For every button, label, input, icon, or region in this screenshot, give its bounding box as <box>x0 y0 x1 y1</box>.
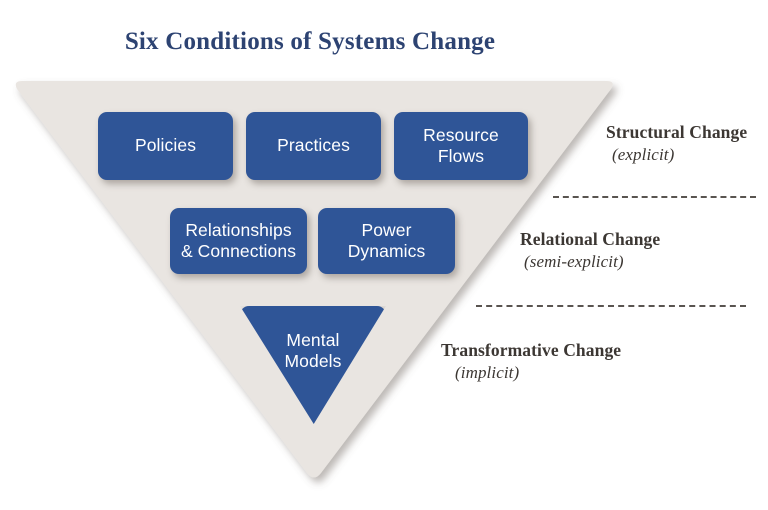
band-title-structural-change: Structural Change <box>606 122 747 143</box>
condition-box-mental-models[interactable]: Mental Models <box>240 306 386 424</box>
condition-label-mental-line2: Models <box>284 351 341 372</box>
condition-label-relationships-connections: Relationships & Connections <box>181 220 296 263</box>
condition-label-power-line2: Dynamics <box>348 241 426 262</box>
band-subtitle-relational-change: (semi-explicit) <box>524 252 660 272</box>
band-divider-structural-relational <box>553 196 756 198</box>
band-title-transformative-change: Transformative Change <box>441 340 621 361</box>
condition-label-resource-flows-line2: Flows <box>423 146 499 167</box>
condition-label-resource-flows: Resource Flows <box>423 125 499 168</box>
condition-label-power-dynamics: Power Dynamics <box>348 220 426 263</box>
band-label-structural-change: Structural Change (explicit) <box>606 122 747 165</box>
condition-box-mental-models-wrapper[interactable]: Mental Models <box>240 306 386 424</box>
band-subtitle-structural-change: (explicit) <box>612 145 747 165</box>
condition-label-relationships-line2: & Connections <box>181 241 296 262</box>
condition-box-practices[interactable]: Practices <box>246 112 381 180</box>
band-divider-relational-transformative <box>476 305 746 307</box>
diagram-canvas: Six Conditions of Systems Change Policie… <box>0 0 768 510</box>
band-subtitle-transformative-change: (implicit) <box>455 363 621 383</box>
condition-label-power-line1: Power <box>348 220 426 241</box>
condition-label-practices: Practices <box>277 135 350 156</box>
condition-box-policies[interactable]: Policies <box>98 112 233 180</box>
condition-box-power-dynamics[interactable]: Power Dynamics <box>318 208 455 274</box>
condition-label-relationships-line1: Relationships <box>181 220 296 241</box>
page-title: Six Conditions of Systems Change <box>0 28 620 56</box>
band-label-transformative-change: Transformative Change (implicit) <box>441 340 621 383</box>
band-label-relational-change: Relational Change (semi-explicit) <box>520 229 660 272</box>
condition-box-resource-flows[interactable]: Resource Flows <box>394 112 528 180</box>
band-title-relational-change: Relational Change <box>520 229 660 250</box>
condition-label-mental-line1: Mental <box>284 330 341 351</box>
condition-label-mental-models: Mental Models <box>284 330 341 373</box>
condition-box-relationships-connections[interactable]: Relationships & Connections <box>170 208 307 274</box>
condition-label-resource-flows-line1: Resource <box>423 125 499 146</box>
condition-label-policies: Policies <box>135 135 196 156</box>
